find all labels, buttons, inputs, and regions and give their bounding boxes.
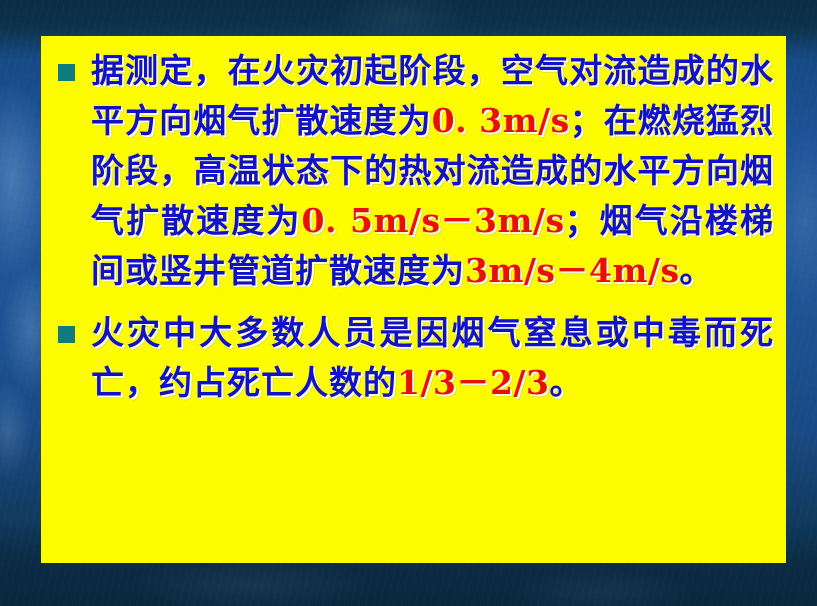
- bullet-1-run-6: 。: [680, 251, 714, 290]
- bullet-1-run-3: 0. 5m/s－3m/s: [302, 201, 565, 240]
- bullet-item-2: 火灾中大多数人员是因烟气窒息或中毒而死亡，约占死亡人数的1/3－2/3。: [51, 308, 774, 408]
- bullet-2-run-2: 。: [549, 363, 583, 402]
- bullet-1-run-1: 0. 3m/s: [432, 101, 570, 140]
- slide-canvas: 据测定，在火灾初起阶段，空气对流造成的水平方向烟气扩散速度为0. 3m/s；在燃…: [0, 0, 817, 606]
- bullet-1-paragraph: 据测定，在火灾初起阶段，空气对流造成的水平方向烟气扩散速度为0. 3m/s；在燃…: [91, 46, 774, 296]
- bullet-2-run-1: 1/3－2/3: [397, 363, 549, 402]
- bullet-1-run-5: 3m/s－4m/s: [465, 251, 680, 290]
- square-bullet-icon: [58, 64, 75, 81]
- yellow-content-panel: 据测定，在火灾初起阶段，空气对流造成的水平方向烟气扩散速度为0. 3m/s；在燃…: [41, 36, 786, 563]
- bullet-2-paragraph: 火灾中大多数人员是因烟气窒息或中毒而死亡，约占死亡人数的1/3－2/3。: [91, 308, 774, 408]
- bullet-item-1: 据测定，在火灾初起阶段，空气对流造成的水平方向烟气扩散速度为0. 3m/s；在燃…: [51, 46, 774, 296]
- square-bullet-icon: [58, 326, 75, 343]
